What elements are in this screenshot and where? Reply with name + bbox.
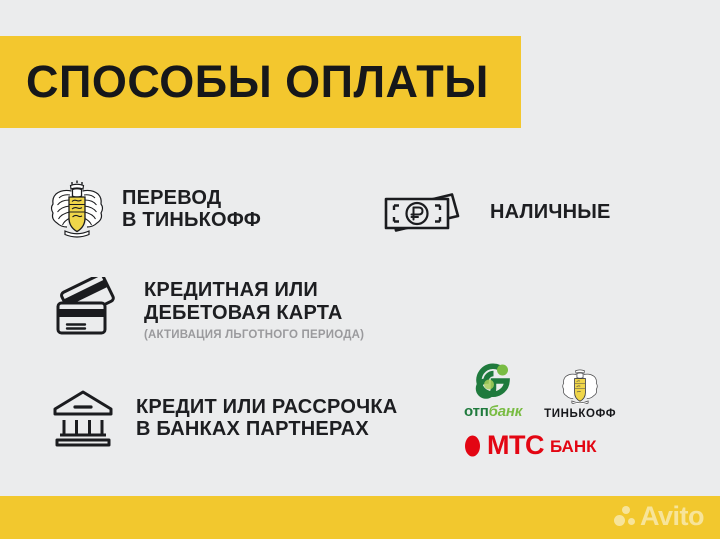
tinkoff-name: ТИНЬКОФФ: [544, 408, 616, 420]
avito-watermark: Avito: [614, 503, 704, 530]
mts-bank-word: БАНК: [550, 438, 597, 455]
partner-logo-mts-bank: МТС БАНК: [464, 432, 644, 459]
method-label-line1: НАЛИЧНЫЕ: [490, 201, 611, 223]
credit-cards-icon: [52, 277, 124, 343]
otp-circle-mark: [472, 362, 514, 400]
method-labels: КРЕДИТ ИЛИ РАССРОЧКА В БАНКАХ ПАРТНЕРАХ: [136, 396, 397, 441]
title-banner: СПОСОБЫ ОПЛАТЫ: [0, 36, 521, 128]
method-labels: НАЛИЧНЫЕ: [490, 201, 611, 223]
bottom-band: [0, 496, 720, 539]
otp-bank-name: отпбанк: [464, 403, 522, 420]
avito-wordmark: Avito: [640, 503, 704, 530]
partner-logo-tinkoff: ТИНЬКОФФ: [544, 366, 616, 420]
otp-name-part2: банк: [489, 403, 523, 420]
method-label-line2: В БАНКАХ ПАРТНЕРАХ: [136, 418, 397, 440]
otp-name-part1: отп: [464, 403, 489, 420]
partner-logos-row: отпбанк ТИНЬКОФФ: [464, 362, 644, 420]
method-label-line1: КРЕДИТНАЯ ИЛИ: [144, 279, 364, 301]
avito-dots-icon: [614, 506, 636, 528]
partner-logo-otp-bank: отпбанк: [464, 362, 522, 420]
tinkoff-crest-small-icon: [560, 366, 600, 404]
payment-method-transfer-tinkoff: ПЕРЕВОД В ТИНЬКОФФ: [48, 178, 261, 240]
mts-name: МТС: [487, 432, 544, 459]
method-labels: ПЕРЕВОД В ТИНЬКОФФ: [122, 187, 261, 232]
method-label-line1: КРЕДИТ ИЛИ РАССРОЧКА: [136, 396, 397, 418]
payment-method-bank-credit: КРЕДИТ ИЛИ РАССРОЧКА В БАНКАХ ПАРТНЕРАХ: [48, 388, 397, 448]
method-label-line1: ПЕРЕВОД: [122, 187, 261, 209]
banknote-ruble-icon: [380, 186, 468, 238]
mts-egg-icon: [464, 433, 481, 458]
method-subtitle: (АКТИВАЦИЯ ЛЬГОТНОГО ПЕРИОДА): [144, 329, 364, 341]
payment-method-cash: НАЛИЧНЫЕ: [380, 186, 611, 238]
page-title: СПОСОБЫ ОПЛАТЫ: [26, 56, 489, 108]
payment-method-credit-debit-card: КРЕДИТНАЯ ИЛИ ДЕБЕТОВАЯ КАРТА (АКТИВАЦИЯ…: [52, 277, 364, 343]
tinkoff-crest-icon: [48, 178, 106, 240]
partner-bank-logos: отпбанк ТИНЬКОФФ: [464, 362, 644, 459]
bank-building-icon: [48, 388, 118, 448]
method-label-line2: ДЕБЕТОВАЯ КАРТА: [144, 302, 364, 324]
slide-canvas: СПОСОБЫ ОПЛАТЫ: [0, 0, 720, 539]
method-labels: КРЕДИТНАЯ ИЛИ ДЕБЕТОВАЯ КАРТА (АКТИВАЦИЯ…: [144, 279, 364, 341]
method-label-line2: В ТИНЬКОФФ: [122, 209, 261, 231]
